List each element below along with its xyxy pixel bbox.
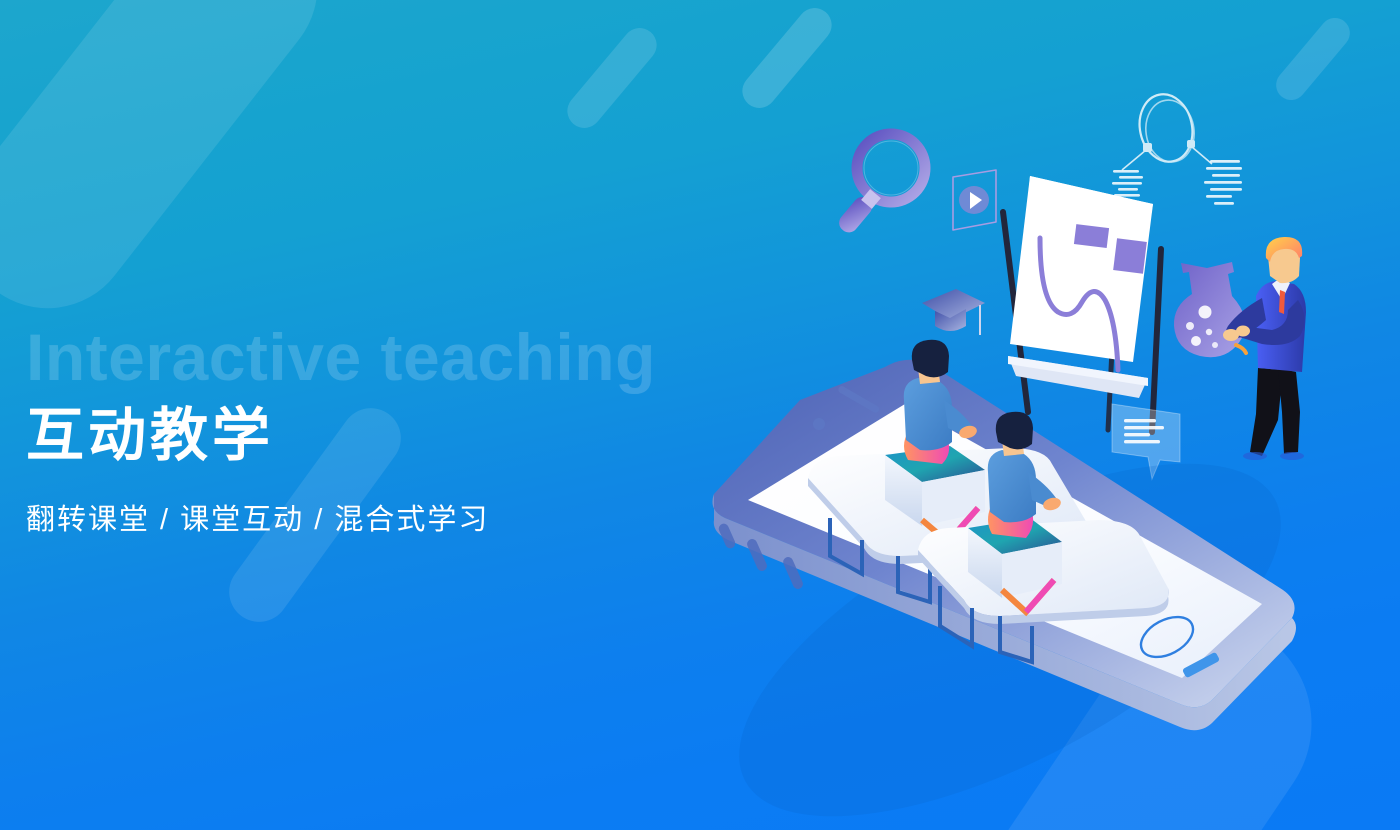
idea-loop-icon [1122,89,1212,170]
board-block-small [1074,224,1109,248]
graduation-cap-icon [922,289,985,335]
teacher-with-flask [1223,237,1306,460]
text-lines-right [1204,160,1242,205]
illustration [0,0,1400,830]
magnifier-icon [835,134,925,236]
science-flask [1174,262,1246,357]
hero-banner: Interactive teaching 互动教学 翻转课堂 / 课堂互动 / … [0,0,1400,830]
board-block-large [1113,238,1147,273]
tablet-camera [813,418,825,430]
video-play-icon [953,170,996,230]
easel-whiteboard [1003,176,1161,432]
